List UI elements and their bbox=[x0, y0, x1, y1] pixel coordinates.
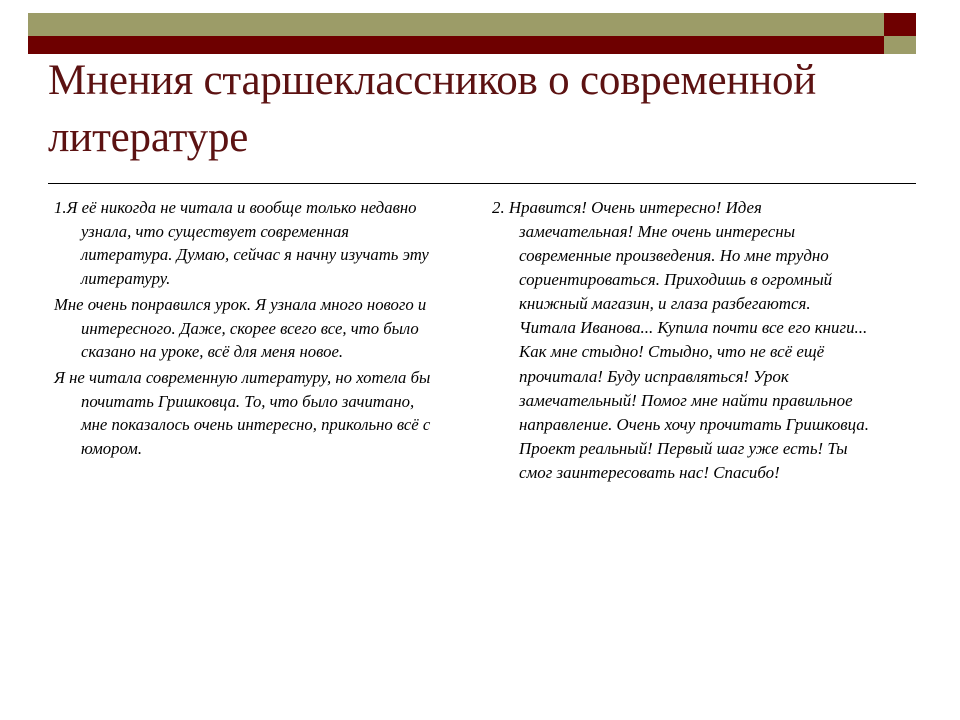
paragraph: 2. Нравится! Очень интересно! Идея замеч… bbox=[492, 196, 870, 485]
paragraph: Я не читала современную литературу, но х… bbox=[54, 366, 436, 461]
left-text-column: 1.Я её никогда не читала и вообще только… bbox=[0, 196, 448, 487]
header-bar-top-row bbox=[28, 13, 916, 36]
slide-body: 1.Я её никогда не читала и вообще только… bbox=[0, 196, 960, 487]
decorative-header-bar bbox=[28, 13, 916, 54]
slide-title: Мнения старшеклассников о современной ли… bbox=[48, 52, 918, 166]
right-text-column: 2. Нравится! Очень интересно! Идея замеч… bbox=[448, 196, 908, 487]
header-bar-top-narrow-segment bbox=[884, 13, 916, 36]
paragraph: 1.Я её никогда не читала и вообще только… bbox=[54, 196, 436, 291]
title-divider bbox=[48, 183, 916, 184]
header-bar-top-wide-segment bbox=[28, 13, 884, 36]
paragraph: Мне очень понравился урок. Я узнала мног… bbox=[54, 293, 436, 364]
